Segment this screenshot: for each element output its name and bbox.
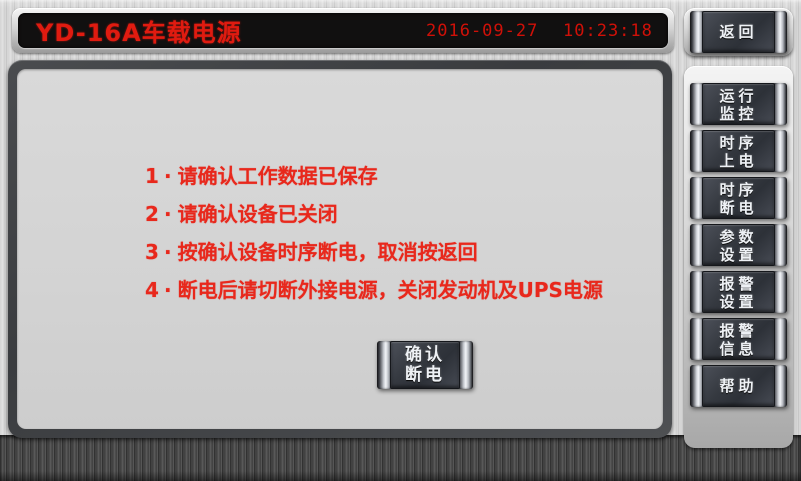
sidebar-item-alarm-settings-line1: 报警	[719, 275, 757, 293]
sidebar-item-help-line1: 帮助	[719, 377, 757, 395]
titlebar: YD-16A车载电源 2016-09-27 10:23:18	[18, 13, 668, 48]
list-item-number: 2	[145, 195, 159, 233]
list-item-dot: ·	[159, 195, 178, 233]
sidebar-item-back-label: 返回	[702, 11, 775, 53]
system-time: 10:23:18	[563, 21, 653, 41]
sidebar-item-parameter-settings-line2: 设置	[719, 246, 757, 264]
sidebar-item-parameter-settings-line1: 参数	[719, 228, 757, 246]
hmi-screen: YD-16A车载电源 2016-09-27 10:23:18 1 · 请确认工作…	[0, 0, 801, 481]
sidebar-item-alarm-info-line1: 报警	[719, 322, 757, 340]
sidebar-item-sequence-power-off-label: 时序 断电	[702, 177, 775, 219]
sidebar-item-alarm-info-label: 报警 信息	[702, 318, 775, 360]
sidebar-item-alarm-settings-line2: 设置	[719, 293, 757, 311]
sidebar-item-help-label: 帮助	[702, 365, 775, 407]
sidebar-item-parameter-settings[interactable]: 参数 设置	[690, 224, 787, 266]
list-item-number: 3	[145, 233, 159, 271]
sidebar-item-alarm-info[interactable]: 报警 信息	[690, 318, 787, 360]
sidebar-item-run-monitor-line2: 监控	[719, 105, 757, 123]
sidebar-item-alarm-info-line2: 信息	[719, 340, 757, 358]
sidebar-item-sequence-power-on[interactable]: 时序 上电	[690, 130, 787, 172]
confirm-power-off-button[interactable]: 确认 断电	[377, 341, 473, 389]
page-title: YD-16A车载电源	[36, 13, 242, 48]
confirm-power-off-label: 确认 断电	[390, 341, 460, 389]
sidebar-group-nav: 运行 监控 时序 上电 时序 断电 参数 设置	[684, 66, 793, 448]
sidebar-item-sequence-power-on-line1: 时序	[719, 134, 757, 152]
list-item: 3 · 按确认设备时序断电，取消按返回	[145, 233, 663, 271]
list-item-text: 请确认工作数据已保存	[178, 157, 378, 195]
instruction-list: 1 · 请确认工作数据已保存 2 · 请确认设备已关闭 3 · 按确认设备时序断…	[145, 157, 663, 309]
list-item-dot: ·	[159, 157, 178, 195]
list-item-dot: ·	[159, 233, 178, 271]
main-panel: 1 · 请确认工作数据已保存 2 · 请确认设备已关闭 3 · 按确认设备时序断…	[17, 69, 663, 429]
list-item: 1 · 请确认工作数据已保存	[145, 157, 663, 195]
sidebar-group-back: 返回	[684, 8, 793, 56]
sidebar-item-parameter-settings-label: 参数 设置	[702, 224, 775, 266]
sidebar-item-help[interactable]: 帮助	[690, 365, 787, 407]
sidebar-item-sequence-power-on-label: 时序 上电	[702, 130, 775, 172]
list-item-number: 1	[145, 157, 159, 195]
sidebar-item-alarm-settings[interactable]: 报警 设置	[690, 271, 787, 313]
list-item-text: 请确认设备已关闭	[178, 195, 338, 233]
list-item-dot: ·	[159, 271, 178, 309]
list-item: 2 · 请确认设备已关闭	[145, 195, 663, 233]
sidebar-item-sequence-power-off-line2: 断电	[719, 199, 757, 217]
sidebar-item-alarm-settings-label: 报警 设置	[702, 271, 775, 313]
main-panel-frame: 1 · 请确认工作数据已保存 2 · 请确认设备已关闭 3 · 按确认设备时序断…	[8, 60, 672, 438]
system-date: 2016-09-27	[426, 21, 538, 41]
list-item-text: 按确认设备时序断电，取消按返回	[178, 233, 478, 271]
sidebar-item-back-line1: 返回	[719, 23, 757, 41]
sidebar-item-run-monitor-line1: 运行	[719, 87, 757, 105]
sidebar-item-run-monitor-label: 运行 监控	[702, 83, 775, 125]
list-item-text: 断电后请切断外接电源，关闭发动机及UPS电源	[178, 271, 603, 309]
list-item-number: 4	[145, 271, 159, 309]
sidebar-item-back[interactable]: 返回	[690, 11, 787, 53]
list-item: 4 · 断电后请切断外接电源，关闭发动机及UPS电源	[145, 271, 663, 309]
sidebar-item-sequence-power-on-line2: 上电	[719, 152, 757, 170]
sidebar-item-sequence-power-off[interactable]: 时序 断电	[690, 177, 787, 219]
sidebar-item-sequence-power-off-line1: 时序	[719, 181, 757, 199]
confirm-power-off-line2: 断电	[405, 365, 445, 385]
sidebar-item-run-monitor[interactable]: 运行 监控	[690, 83, 787, 125]
confirm-power-off-line1: 确认	[405, 345, 445, 365]
